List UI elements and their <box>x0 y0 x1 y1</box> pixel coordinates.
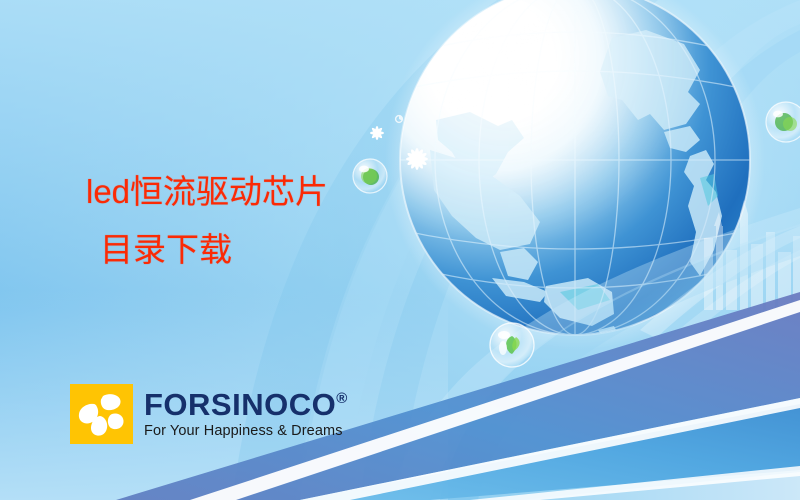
headline-line-1: led恒流驱动芯片 <box>86 163 516 221</box>
company-logo: FORSINOCO ® For Your Happiness & Dreams <box>70 384 348 444</box>
headline-line-2: 目录下载 <box>86 221 516 279</box>
brand-tagline: For Your Happiness & Dreams <box>144 424 348 439</box>
four-petal-flower-icon <box>70 384 133 444</box>
bubble-leaf <box>490 323 534 367</box>
brand-name: FORSINOCO ® <box>144 389 348 420</box>
promo-banner: led恒流驱动芯片 目录下载 FORSINOCO ® For Your Happ… <box>0 0 800 500</box>
sparkle-flower <box>370 126 384 140</box>
headline: led恒流驱动芯片 目录下载 <box>86 163 516 279</box>
brand-name-text: FORSINOCO <box>144 389 336 420</box>
bubble-edge <box>766 102 800 142</box>
logo-text-block: FORSINOCO ® For Your Happiness & Dreams <box>144 389 348 439</box>
registered-trademark-icon: ® <box>336 391 348 406</box>
